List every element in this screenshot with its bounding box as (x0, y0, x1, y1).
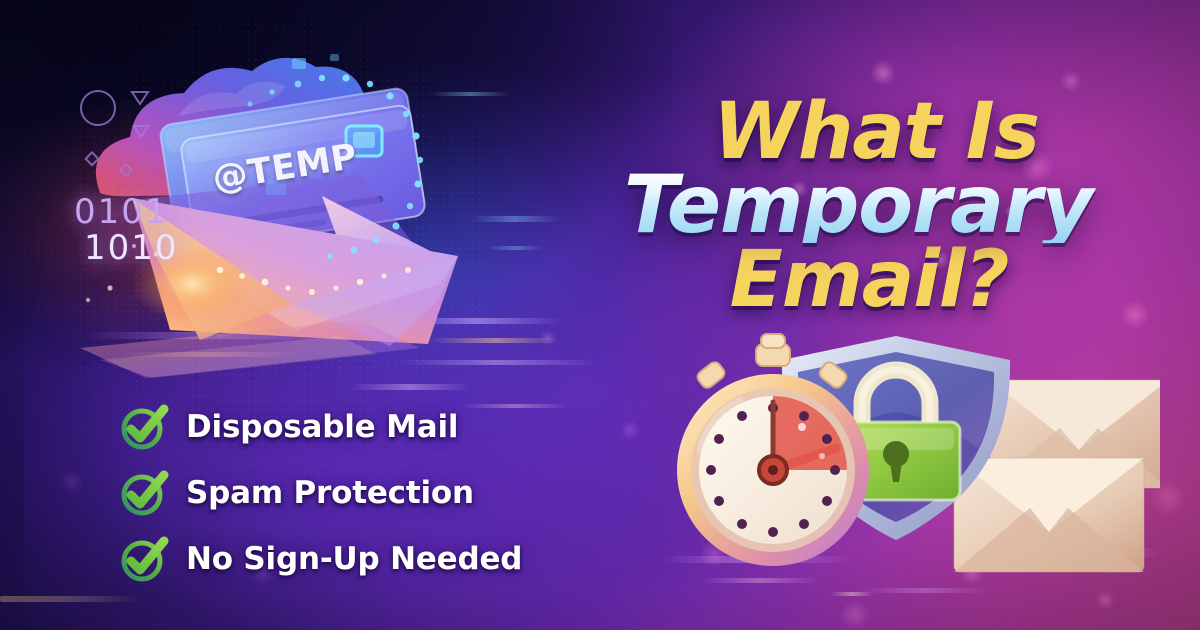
feature-list: Disposable Mail Spam Protection No Sign-… (118, 396, 522, 594)
envelope-icon (954, 458, 1144, 572)
feature-item-spam-protection: Spam Protection (118, 462, 522, 524)
binary-text-line-2: 1010 (84, 228, 179, 268)
feature-label: No Sign-Up Needed (186, 541, 522, 577)
security-icons-illustration (660, 330, 1160, 580)
check-circle-icon (118, 468, 170, 518)
feature-item-no-signup-needed: No Sign-Up Needed (118, 528, 522, 590)
check-circle-icon (118, 402, 170, 452)
headline-line-3: Email? (576, 244, 1136, 317)
headline-line-2: Temporary (576, 167, 1136, 242)
feature-item-disposable-mail: Disposable Mail (118, 396, 522, 458)
headline: What Is Temporary Email? (576, 96, 1136, 317)
stopwatch-icon (677, 334, 869, 566)
binary-text-line-1: 0101 (74, 192, 169, 232)
check-circle-icon (118, 534, 170, 584)
feature-label: Spam Protection (186, 475, 474, 511)
feature-label: Disposable Mail (186, 409, 458, 445)
social-banner: 0101 1010 @TEMP (0, 0, 1200, 630)
